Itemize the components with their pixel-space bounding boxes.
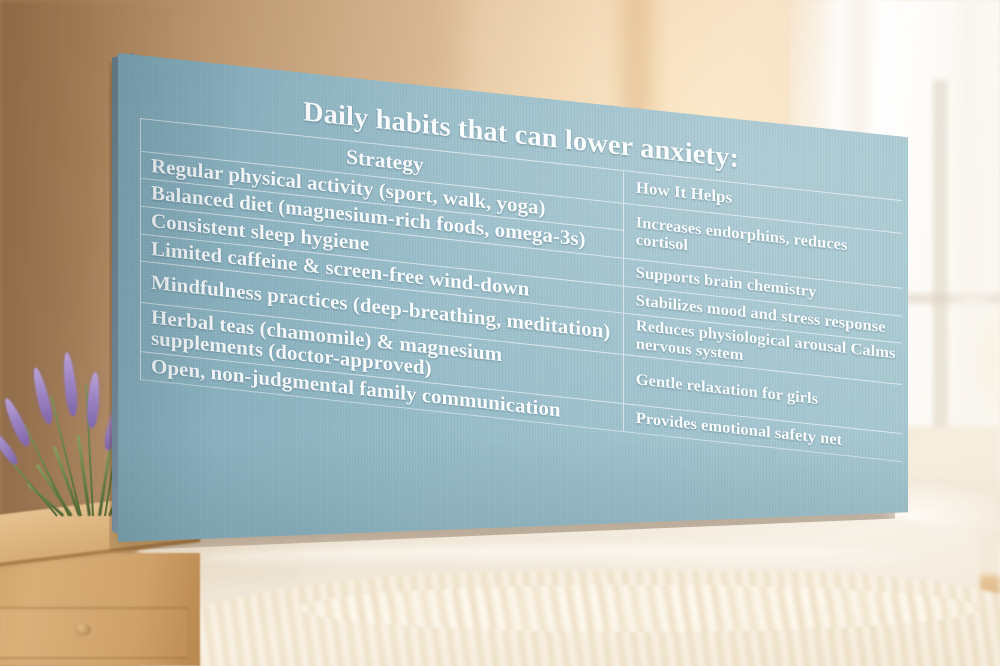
nightstand-drawer: [0, 607, 190, 659]
nightstand-drawer-knob: [75, 623, 91, 636]
print-content-layer: Daily habits that can lower anxiety: Str…: [118, 54, 908, 617]
bedroom-scene: Daily habits that can lower anxiety: Str…: [0, 0, 1000, 666]
